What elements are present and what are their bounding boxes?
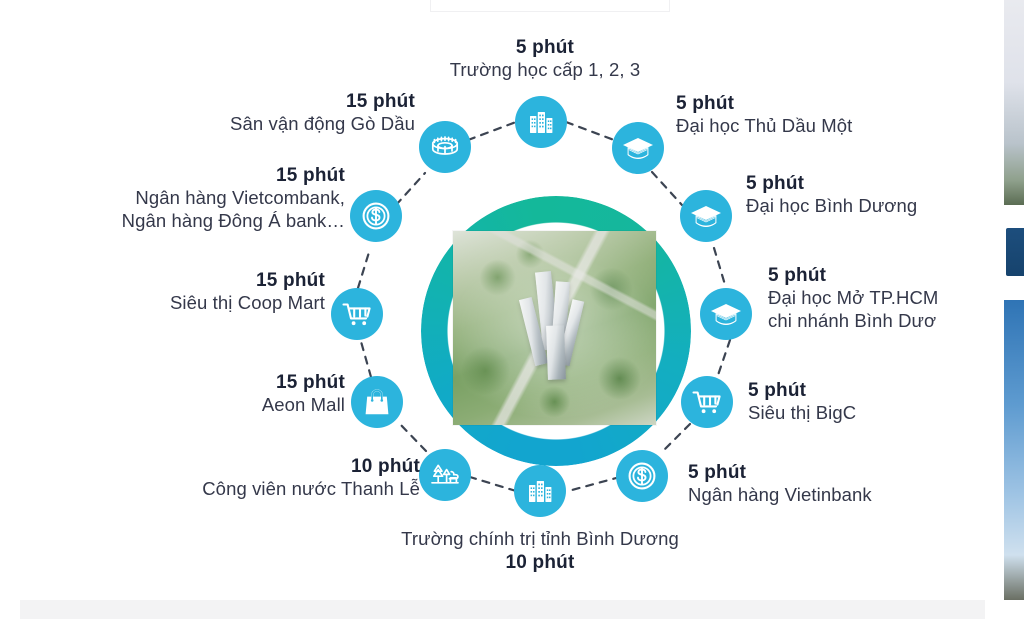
- stadium-icon: [428, 134, 462, 160]
- label-time: 10 phút: [110, 455, 420, 478]
- center-aerial-photo: [453, 231, 656, 425]
- right-image-top: [1004, 0, 1024, 205]
- label-place: Sân vận động Gò Dầu: [70, 113, 415, 136]
- label-time: 5 phút: [748, 379, 856, 402]
- label-place: Ngân hàng Vietinbank: [688, 484, 872, 507]
- spoke-9: [398, 422, 426, 451]
- label-place-line2: Ngân hàng Đông Á bank…: [20, 210, 345, 233]
- shopping-cart-icon: [341, 300, 373, 328]
- label-place: Trường học cấp 1, 2, 3: [400, 59, 690, 82]
- label-place: Aeon Mall: [60, 394, 345, 417]
- label-time: 15 phút: [70, 90, 415, 113]
- label-dai-hoc-mo-tphcm: 5 phút Đại học Mở TP.HCM chi nhánh Bình …: [768, 264, 938, 332]
- label-truong-hoc: 5 phút Trường học cấp 1, 2, 3: [400, 36, 690, 82]
- label-ngan-hang-vietcombank: 15 phút Ngân hàng Vietcombank, Ngân hàng…: [20, 164, 345, 232]
- spoke-4: [714, 248, 726, 288]
- label-aeon-mall: 15 phút Aeon Mall: [60, 371, 345, 417]
- shopping-cart-icon: [691, 388, 723, 416]
- label-place: Siêu thị BigC: [748, 402, 856, 425]
- label-time: 5 phút: [400, 36, 690, 59]
- page-bottom-bar-sliver: [20, 600, 985, 619]
- label-place: Siêu thị Coop Mart: [20, 292, 325, 315]
- label-time: 15 phút: [20, 164, 345, 187]
- label-time: 5 phút: [746, 172, 917, 195]
- node-sieu-thi-coop-mart[interactable]: [331, 288, 383, 340]
- buildings-icon: [526, 107, 556, 137]
- label-cong-vien-nuoc-thanh-le: 10 phút Công viên nước Thanh Lễ: [110, 455, 420, 501]
- shopping-bag-icon: [363, 387, 391, 417]
- spoke-8: [470, 477, 516, 491]
- label-truong-chinh-tri: Trường chính trị tỉnh Bình Dương 10 phút: [395, 528, 685, 574]
- node-dai-hoc-binh-duong[interactable]: [680, 190, 732, 242]
- buildings-icon: [525, 476, 555, 506]
- label-ngan-hang-vietinbank: 5 phút Ngân hàng Vietinbank: [688, 461, 872, 507]
- label-place: Ngân hàng Vietcombank,: [20, 187, 345, 210]
- node-truong-chinh-tri[interactable]: [514, 465, 566, 517]
- node-ngan-hang-vietcombank[interactable]: [350, 190, 402, 242]
- graduation-cap-icon: [710, 300, 742, 328]
- spoke-10: [360, 338, 371, 377]
- dollar-coin-icon: [361, 201, 391, 231]
- dollar-coin-icon: [627, 461, 657, 491]
- label-time: 15 phút: [60, 371, 345, 394]
- label-time: 5 phút: [768, 264, 938, 287]
- node-cong-vien-nuoc-thanh-le[interactable]: [419, 449, 471, 501]
- right-content-column-sliver: [996, 0, 1024, 619]
- label-time: 10 phút: [395, 551, 685, 574]
- label-san-van-dong-go-dau: 15 phút Sân vận động Gò Dầu: [70, 90, 415, 136]
- label-place: Đại học Mở TP.HCM: [768, 287, 938, 310]
- label-place: Đại học Bình Dương: [746, 195, 917, 218]
- spoke-12: [396, 173, 425, 205]
- label-place: Trường chính trị tỉnh Bình Dương: [395, 528, 685, 551]
- node-aeon-mall[interactable]: [351, 376, 403, 428]
- label-sieu-thi-coop-mart: 15 phút Siêu thị Coop Mart: [20, 269, 325, 315]
- label-sieu-thi-bigc: 5 phút Siêu thị BigC: [748, 379, 856, 425]
- label-place-line2: chi nhánh Bình Dươ: [768, 310, 938, 333]
- spoke-6: [662, 424, 690, 452]
- spoke-11: [358, 249, 370, 288]
- label-time: 5 phút: [676, 92, 852, 115]
- photo-haze-overlay: [453, 231, 656, 425]
- node-truong-hoc[interactable]: [515, 96, 567, 148]
- right-image-bottom: [1004, 300, 1024, 600]
- amenities-radial-diagram: 5 phút Trường học cấp 1, 2, 3 5 phút Đại…: [0, 0, 985, 600]
- node-dai-hoc-mo-tphcm[interactable]: [700, 288, 752, 340]
- label-dai-hoc-binh-duong: 5 phút Đại học Bình Dương: [746, 172, 917, 218]
- spoke-5: [717, 340, 730, 378]
- label-time: 5 phút: [688, 461, 872, 484]
- node-san-van-dong-go-dau[interactable]: [419, 121, 471, 173]
- spoke-2: [566, 122, 614, 140]
- graduation-cap-icon: [690, 202, 722, 230]
- label-place: Công viên nước Thanh Lễ: [110, 478, 420, 501]
- spoke-3: [652, 172, 682, 205]
- spoke-7: [572, 477, 620, 490]
- node-dai-hoc-thu-dau-mot[interactable]: [612, 122, 664, 174]
- label-time: 15 phút: [20, 269, 325, 292]
- right-side-button[interactable]: [1006, 228, 1024, 276]
- node-sieu-thi-bigc[interactable]: [681, 376, 733, 428]
- label-place: Đại học Thủ Dầu Một: [676, 115, 852, 138]
- label-dai-hoc-thu-dau-mot: 5 phút Đại học Thủ Dầu Một: [676, 92, 852, 138]
- node-ngan-hang-vietinbank[interactable]: [616, 450, 668, 502]
- page-canvas: 5 phút Trường học cấp 1, 2, 3 5 phút Đại…: [0, 0, 1024, 619]
- spoke-1: [468, 122, 516, 140]
- graduation-cap-icon: [622, 134, 654, 162]
- park-icon: [429, 460, 461, 490]
